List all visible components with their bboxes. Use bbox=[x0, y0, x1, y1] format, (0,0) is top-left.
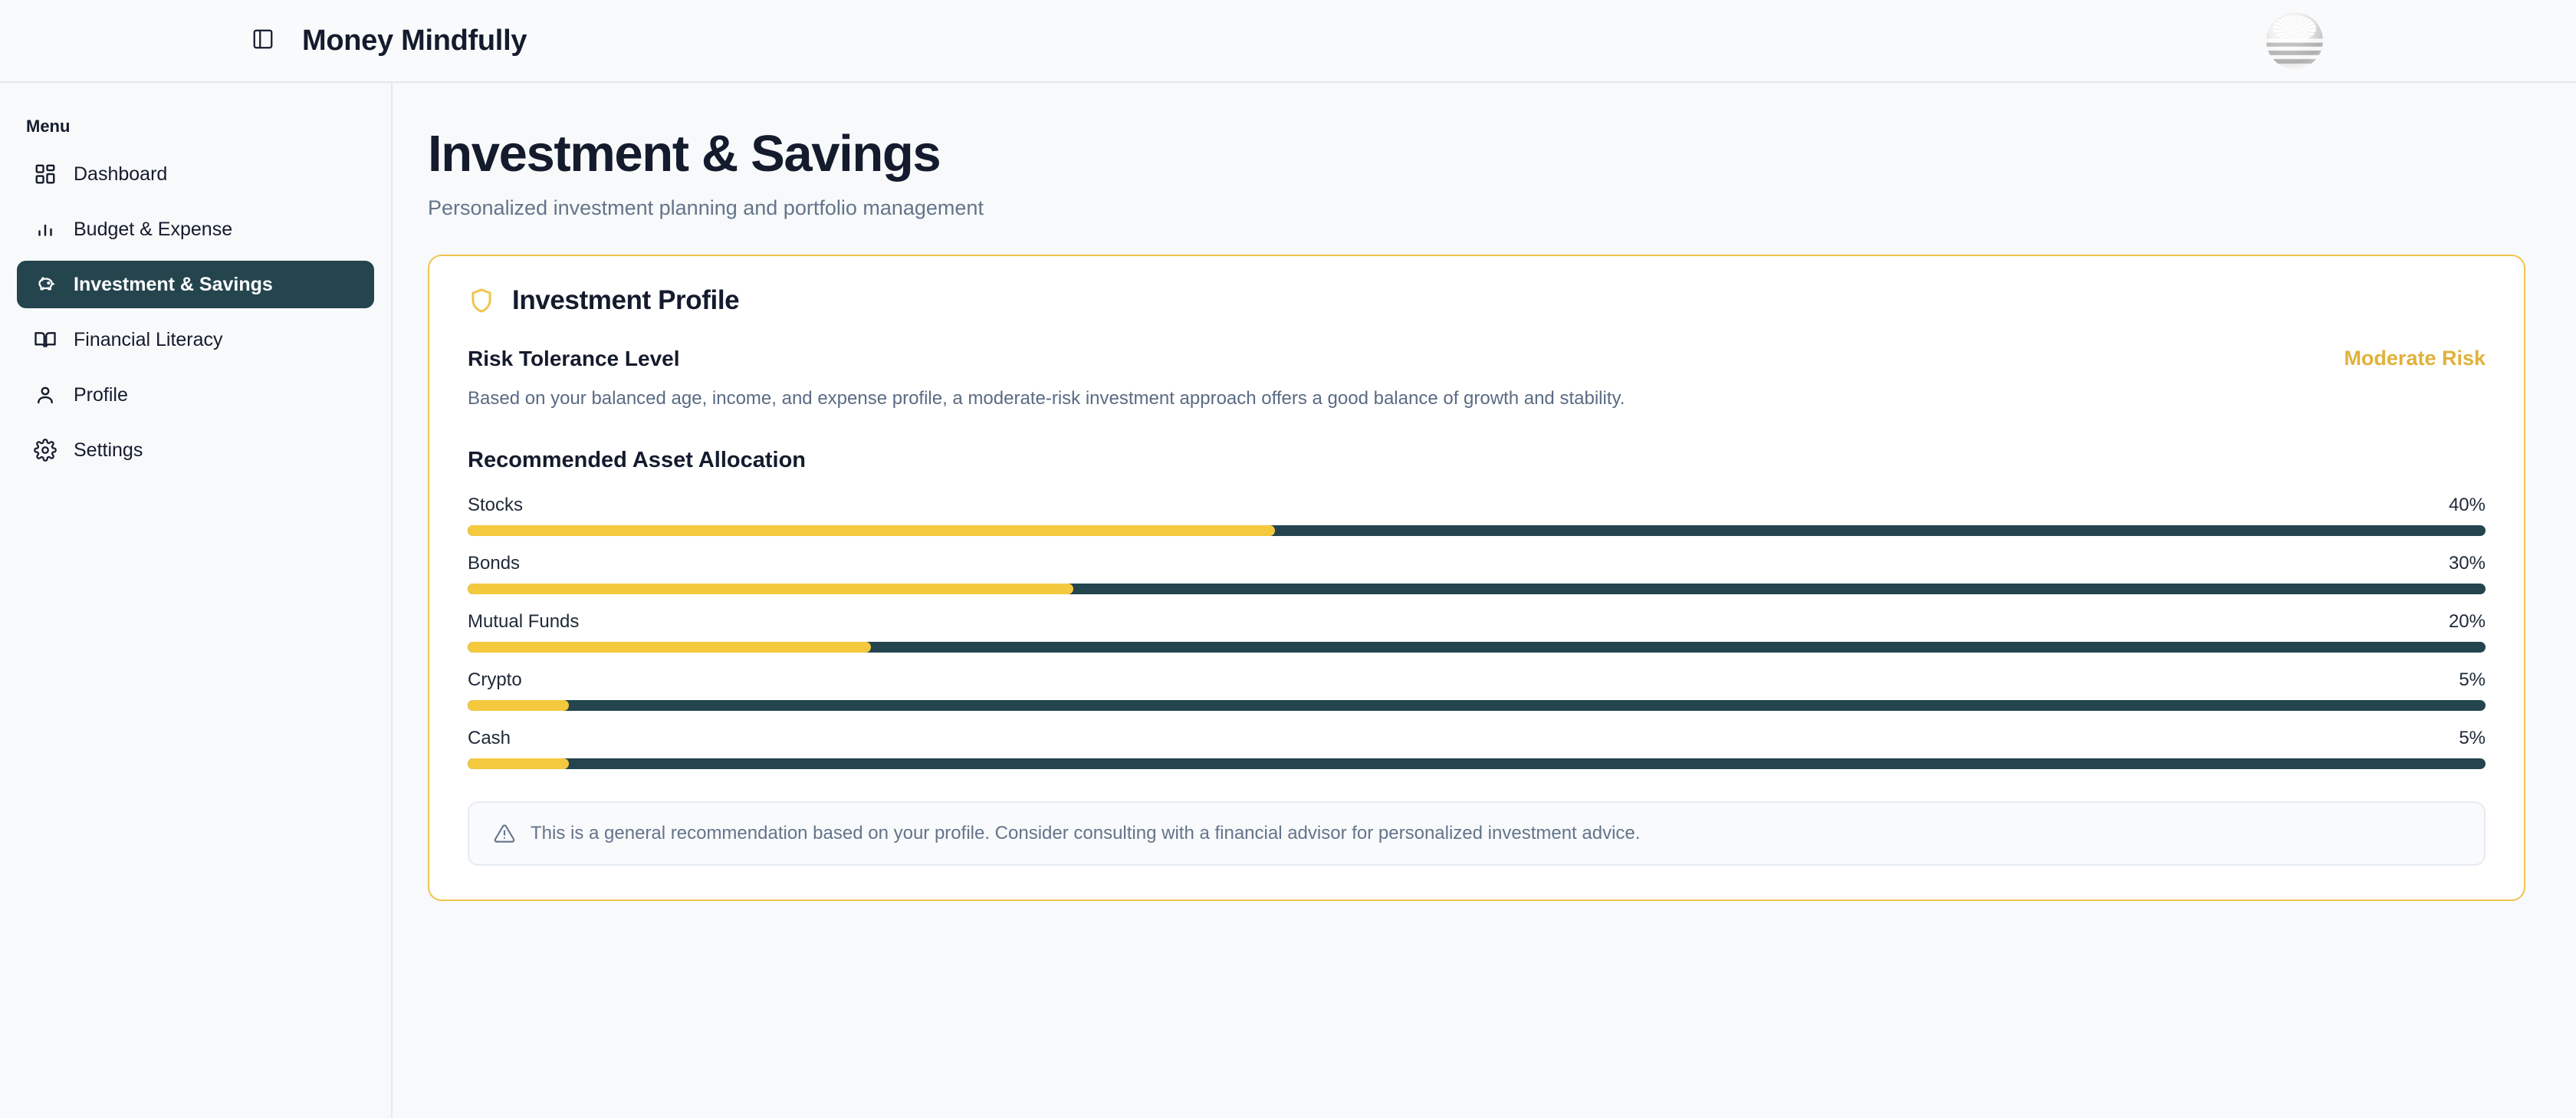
allocation-bar-fill bbox=[468, 584, 1073, 594]
allocation-bar-fill bbox=[468, 525, 1275, 536]
allocation-bar-track bbox=[468, 642, 2486, 653]
disclaimer-text: This is a general recommendation based o… bbox=[531, 823, 1640, 844]
sidebar-item-label: Profile bbox=[74, 384, 128, 406]
sidebar-item-dashboard[interactable]: Dashboard bbox=[17, 150, 374, 198]
alert-triangle-icon bbox=[494, 823, 515, 844]
risk-description: Based on your balanced age, income, and … bbox=[468, 388, 2486, 409]
piggy-bank-icon bbox=[34, 273, 57, 296]
sidebar-item-label: Dashboard bbox=[74, 163, 167, 186]
allocation-bar-track bbox=[468, 700, 2486, 711]
book-open-icon bbox=[34, 328, 57, 351]
shield-icon bbox=[468, 287, 495, 314]
card-header: Investment Profile bbox=[468, 285, 2486, 316]
page-layout: Menu Dashboard bbox=[0, 83, 2576, 1118]
layout-grid-icon bbox=[34, 163, 57, 186]
sidebar: Menu Dashboard bbox=[0, 83, 393, 1118]
sidebar-item-financial-literacy[interactable]: Financial Literacy bbox=[17, 316, 374, 363]
page-subtitle: Personalized investment planning and por… bbox=[428, 196, 2525, 220]
sidebar-item-investment-savings[interactable]: Investment & Savings bbox=[17, 261, 374, 308]
investment-profile-card: Investment Profile Risk Tolerance Level … bbox=[428, 255, 2525, 901]
disclaimer-notice: This is a general recommendation based o… bbox=[468, 801, 2486, 866]
asset-label: Crypto bbox=[468, 669, 522, 691]
sidebar-section-label: Menu bbox=[0, 106, 391, 150]
sidebar-item-settings[interactable]: Settings bbox=[17, 426, 374, 474]
sidebar-item-label: Investment & Savings bbox=[74, 274, 273, 296]
app-title: Money Mindfully bbox=[302, 25, 527, 58]
asset-percent: 5% bbox=[2459, 669, 2486, 691]
allocation-row: Mutual Funds 20% bbox=[468, 611, 2486, 653]
page-title: Investment & Savings bbox=[428, 127, 2525, 181]
sidebar-item-label: Budget & Expense bbox=[74, 219, 232, 241]
allocation-section-title: Recommended Asset Allocation bbox=[468, 448, 2486, 473]
asset-label: Cash bbox=[468, 728, 511, 749]
sidebar-nav-list: Dashboard Budget & Expense bbox=[0, 150, 391, 474]
allocation-bar-fill bbox=[468, 700, 569, 711]
risk-tolerance-row: Risk Tolerance Level Moderate Risk bbox=[468, 347, 2486, 371]
panel-left-icon bbox=[251, 28, 274, 54]
allocation-row: Cash 5% bbox=[468, 728, 2486, 769]
avatar[interactable] bbox=[2266, 12, 2323, 69]
sidebar-item-label: Financial Literacy bbox=[74, 329, 223, 351]
asset-percent: 20% bbox=[2449, 611, 2486, 633]
allocation-bar-fill bbox=[468, 758, 569, 769]
sidebar-item-label: Settings bbox=[74, 439, 143, 462]
app-header: Money Mindfully bbox=[0, 0, 2576, 83]
main-content: Investment & Savings Personalized invest… bbox=[393, 83, 2576, 1118]
sidebar-item-profile[interactable]: Profile bbox=[17, 371, 374, 419]
asset-label: Stocks bbox=[468, 495, 523, 516]
allocation-bar-fill bbox=[468, 642, 871, 653]
allocation-row: Crypto 5% bbox=[468, 669, 2486, 711]
allocation-bar-track bbox=[468, 758, 2486, 769]
asset-percent: 5% bbox=[2459, 728, 2486, 749]
allocation-bar-track bbox=[468, 584, 2486, 594]
gear-icon bbox=[34, 439, 57, 462]
asset-label: Bonds bbox=[468, 553, 520, 574]
sidebar-item-budget-expense[interactable]: Budget & Expense bbox=[17, 206, 374, 253]
bar-chart-icon bbox=[34, 218, 57, 241]
asset-percent: 40% bbox=[2449, 495, 2486, 516]
allocation-row: Stocks 40% bbox=[468, 495, 2486, 536]
card-title: Investment Profile bbox=[512, 285, 739, 316]
sidebar-toggle-button[interactable] bbox=[245, 23, 281, 58]
allocation-bar-track bbox=[468, 525, 2486, 536]
risk-level-badge: Moderate Risk bbox=[2344, 347, 2486, 370]
asset-percent: 30% bbox=[2449, 553, 2486, 574]
asset-label: Mutual Funds bbox=[468, 611, 579, 633]
avatar-stripes bbox=[2266, 12, 2323, 69]
risk-tolerance-label: Risk Tolerance Level bbox=[468, 347, 680, 371]
asset-allocation-chart: Stocks 40% Bonds 30% bbox=[468, 495, 2486, 769]
user-icon bbox=[34, 383, 57, 406]
allocation-row: Bonds 30% bbox=[468, 553, 2486, 594]
